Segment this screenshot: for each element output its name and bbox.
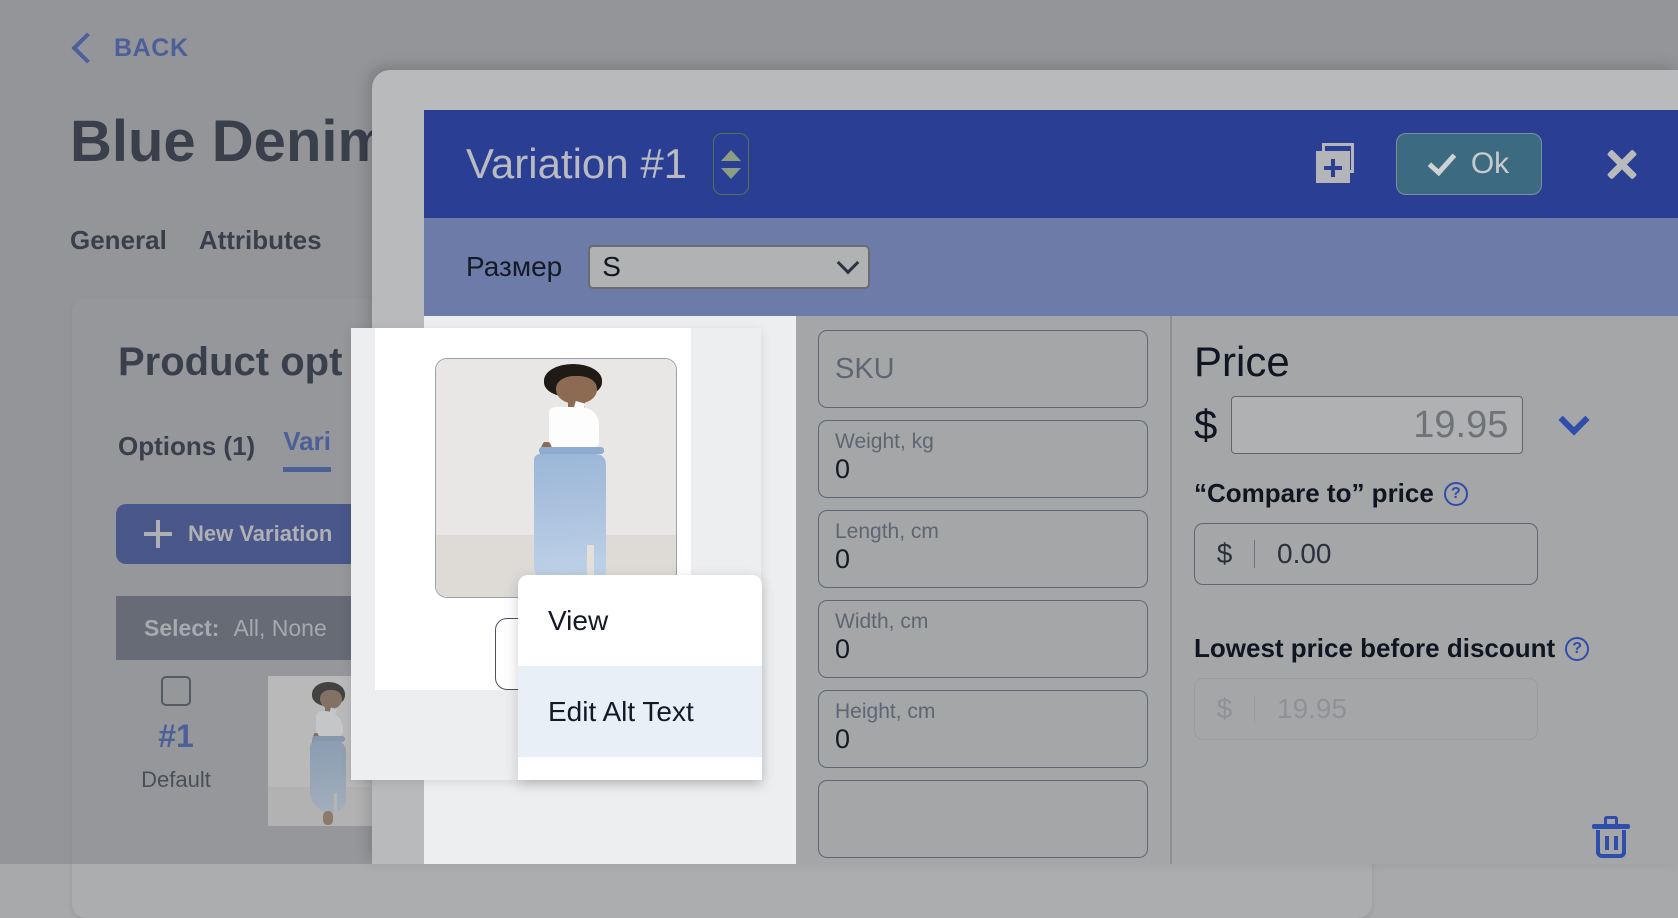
compare-price-currency: $ <box>1195 540 1255 568</box>
sku-field[interactable]: SKU <box>818 330 1148 408</box>
trash-icon[interactable] <box>1592 816 1630 860</box>
lowest-price-input[interactable]: $ 19.95 <box>1194 678 1538 740</box>
extra-field[interactable] <box>818 780 1148 858</box>
variation-cell: #1 Default <box>116 676 236 793</box>
variation-image-thumbnail-large[interactable] <box>435 358 677 598</box>
price-currency: $ <box>1194 401 1217 449</box>
context-menu-item-edit-alt-text[interactable]: Edit Alt Text <box>518 666 762 757</box>
compare-price-label-row: “Compare to” price ? <box>1194 478 1678 509</box>
help-icon[interactable]: ? <box>1444 482 1468 506</box>
add-copy-icon[interactable] <box>1316 143 1360 185</box>
height-label: Height, cm <box>835 701 1131 723</box>
variation-default-label: Default <box>141 767 211 793</box>
height-value: 0 <box>835 723 1131 755</box>
price-row: $ 19.95 <box>1194 396 1678 454</box>
width-value: 0 <box>835 633 1131 665</box>
attribute-label: Размер <box>466 251 562 283</box>
tab-general[interactable]: General <box>70 225 167 256</box>
modal-header: Variation #1 Ok <box>424 110 1678 218</box>
compare-price-value: 0.00 <box>1255 538 1332 570</box>
context-menu-item-view[interactable]: View <box>518 575 762 666</box>
weight-field[interactable]: Weight, kg 0 <box>818 420 1148 498</box>
page-tabs: General Attributes <box>70 225 322 256</box>
help-icon[interactable]: ? <box>1565 637 1589 661</box>
tab-attributes[interactable]: Attributes <box>199 225 322 256</box>
ok-button[interactable]: Ok <box>1396 133 1542 195</box>
modal-title: Variation #1 <box>466 140 687 188</box>
size-select[interactable]: S <box>588 245 870 289</box>
compare-price-label: “Compare to” price <box>1194 478 1434 509</box>
variation-number[interactable]: #1 <box>158 718 194 755</box>
length-label: Length, cm <box>835 521 1131 543</box>
attribute-bar: Размер S <box>424 218 1678 316</box>
length-field[interactable]: Length, cm 0 <box>818 510 1148 588</box>
chevron-down-icon <box>837 252 860 275</box>
tab-options[interactable]: Options (1) <box>118 431 255 472</box>
price-input[interactable]: 19.95 <box>1231 396 1523 454</box>
checkbox-unchecked-icon[interactable] <box>161 676 191 706</box>
size-select-value: S <box>602 251 621 283</box>
compare-price-input[interactable]: $ 0.00 <box>1194 523 1538 585</box>
price-heading: Price <box>1194 338 1678 386</box>
fields-column: SKU Weight, kg 0 Length, cm 0 Width, cm … <box>796 316 1170 864</box>
width-field[interactable]: Width, cm 0 <box>818 600 1148 678</box>
price-column: Price $ 19.95 “Compare to” price ? $ 0.0… <box>1170 316 1678 864</box>
plus-icon <box>144 520 172 548</box>
chevron-down-icon[interactable] <box>1559 404 1590 435</box>
card-tabs: Options (1) Vari <box>118 426 331 472</box>
length-value: 0 <box>835 543 1131 575</box>
close-icon[interactable] <box>1600 142 1644 186</box>
sku-placeholder: SKU <box>835 353 895 385</box>
lowest-price-label: Lowest price before discount <box>1194 633 1555 664</box>
stepper-up-icon <box>721 150 741 161</box>
weight-label: Weight, kg <box>835 431 1131 453</box>
select-bar-links[interactable]: All, None <box>233 615 326 642</box>
image-context-menu: View Edit Alt Text <box>518 575 762 780</box>
card-heading: Product opt <box>118 340 342 385</box>
width-label: Width, cm <box>835 611 1131 633</box>
tab-variations[interactable]: Vari <box>283 426 331 472</box>
check-icon <box>1428 146 1457 175</box>
stepper-up-down-icon[interactable] <box>713 133 749 195</box>
weight-value: 0 <box>835 453 1131 485</box>
page-title: Blue Denim <box>70 108 389 175</box>
stepper-down-icon <box>721 168 741 179</box>
lowest-price-currency: $ <box>1195 695 1255 723</box>
chevron-left-icon <box>70 28 96 68</box>
modal-header-actions: Ok <box>1316 133 1678 195</box>
select-bar-label: Select: <box>144 615 219 642</box>
variation-list-row: #1 Default <box>116 676 378 826</box>
new-variation-button[interactable]: New Variation <box>116 504 360 564</box>
back-link-label: BACK <box>114 34 189 63</box>
new-variation-label: New Variation <box>188 521 332 547</box>
lowest-price-label-row: Lowest price before discount ? <box>1194 633 1678 664</box>
lowest-price-value: 19.95 <box>1255 693 1347 725</box>
height-field[interactable]: Height, cm 0 <box>818 690 1148 768</box>
ok-button-label: Ok <box>1471 147 1509 181</box>
back-link[interactable]: BACK <box>70 28 189 68</box>
